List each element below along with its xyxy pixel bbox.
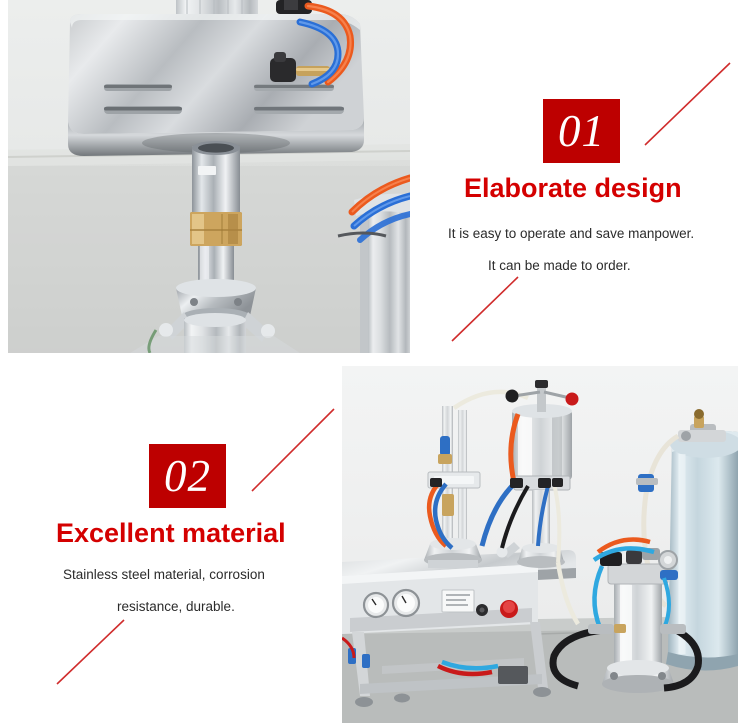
photo-filling-nozzle-closeup: [8, 0, 410, 353]
section-body-line-01-a: It is easy to operate and save manpower.: [448, 226, 694, 241]
section-title-02: Excellent material: [56, 518, 286, 549]
connector-line-02-top: [252, 409, 334, 491]
section-number-badge-01: 01: [543, 99, 620, 163]
section-body-line-02-a: Stainless steel material, corrosion: [63, 567, 265, 582]
section-body-line-01-b: It can be made to order.: [488, 258, 631, 273]
product-feature-infographic: 01 Elaborate design It is easy to operat…: [0, 0, 750, 723]
connector-line-01-bottom: [452, 277, 518, 341]
photo-full-machine-with-gas-cylinder: [342, 366, 738, 723]
section-number-badge-02: 02: [149, 444, 226, 508]
connector-line-02-bottom: [57, 620, 124, 684]
connector-line-01-top: [645, 63, 730, 145]
section-title-01: Elaborate design: [464, 173, 682, 204]
section-body-line-02-b: resistance, durable.: [117, 599, 235, 614]
